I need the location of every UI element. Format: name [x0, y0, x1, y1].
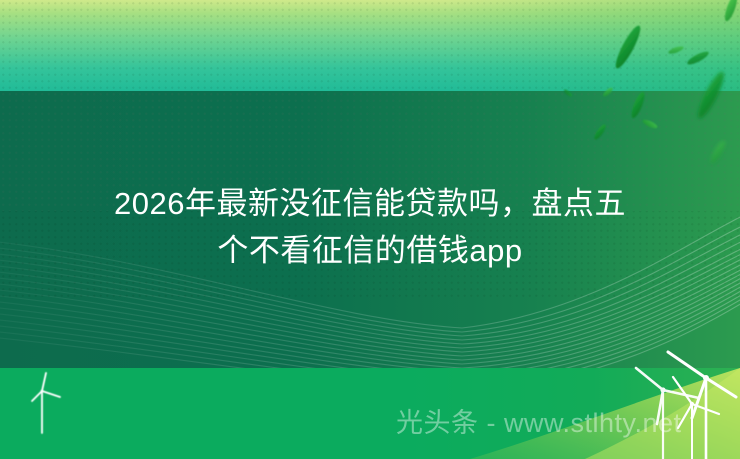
- cover-title: 2026年最新没征信能贷款吗，盘点五 个不看征信的借钱app: [0, 180, 740, 274]
- cover-title-line-1: 2026年最新没征信能贷款吗，盘点五: [30, 180, 710, 227]
- site-watermark: 光头条 - www.stlhty.net: [396, 406, 682, 440]
- background-band-top: [0, 0, 740, 91]
- article-cover-banner: 光头条 - www.stlhty.net 2026年最新没征信能贷款吗，盘点五 …: [0, 0, 740, 459]
- cover-title-line-2: 个不看征信的借钱app: [30, 227, 710, 274]
